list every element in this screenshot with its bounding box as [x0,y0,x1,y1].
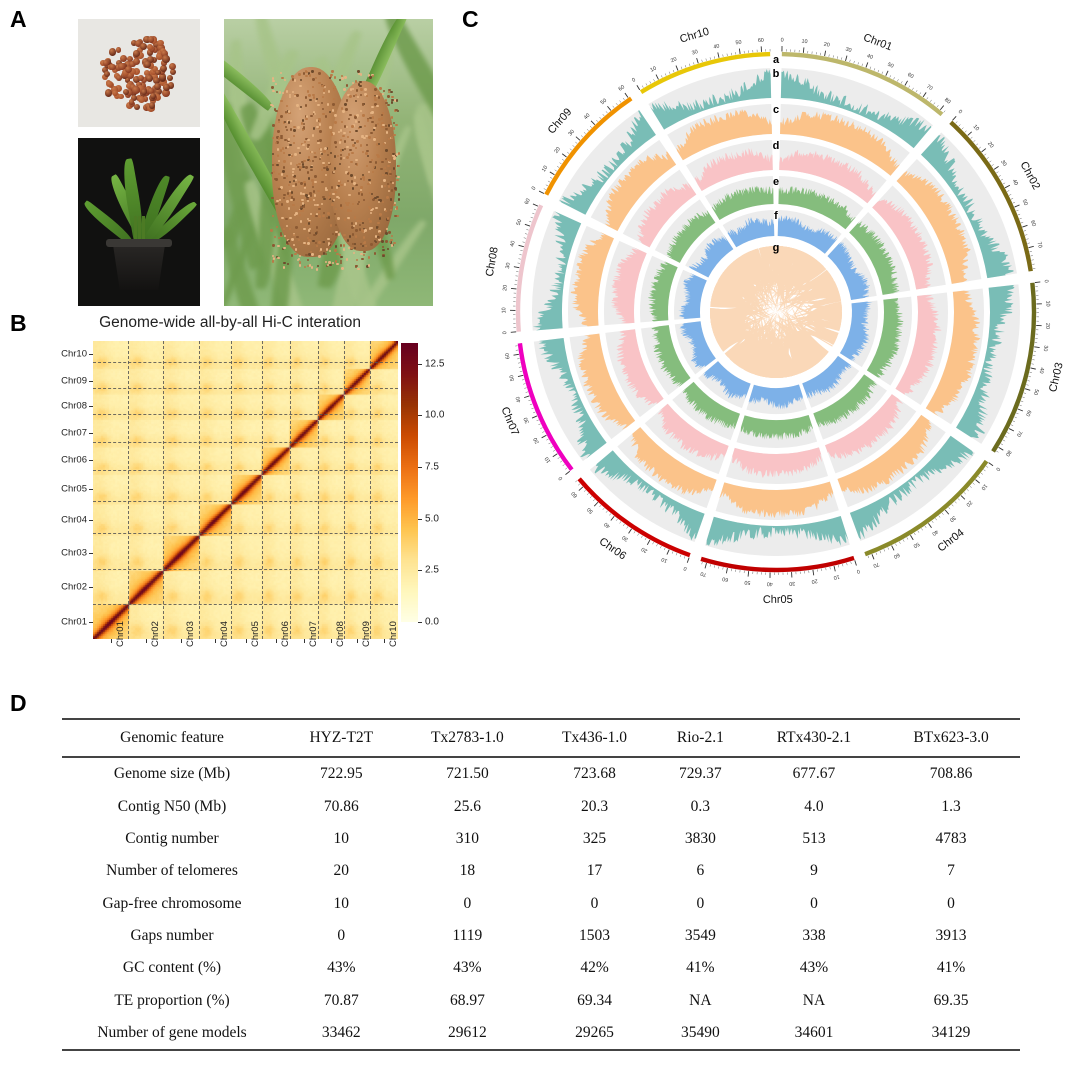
panicle-grain [381,240,383,242]
heatmap-x-tick [304,639,305,643]
panicle-grain [320,248,322,250]
panicle-grain [385,149,387,151]
panicle-grain [360,88,362,90]
table-cell: 722.95 [282,757,401,790]
ideogram-minor-tick [685,65,686,67]
ideogram-tick-label: 0 [856,568,861,575]
ideogram-tick-label: 30 [567,129,575,137]
ideogram-tick-label: 30 [523,416,531,424]
panicle-grain [340,129,342,131]
panicle-grain [342,135,344,137]
colorbar-tick-label: 2.5 [425,565,439,576]
ideogram-tick-label: 50 [509,374,516,381]
ideogram-major-tick [594,502,598,506]
panicle-grain [386,196,388,198]
panicle-grain [349,235,351,237]
ideogram-minor-tick [976,144,978,146]
ideogram-minor-tick [907,537,908,539]
table-cell: 29265 [534,1017,655,1050]
heatmap-x-tick [246,639,247,643]
panicle-grain [280,137,282,139]
panicle-grain [299,264,301,266]
panicle-grain [272,260,274,262]
ideogram-minor-tick [967,489,969,491]
panicle-grain [333,199,335,201]
ideogram-minor-tick [1024,230,1026,231]
ideogram-minor-tick [841,57,842,59]
ideogram-major-tick [542,435,547,438]
panicle-grain [309,74,311,76]
panicle-grain [295,248,297,250]
colorbar-tick [418,415,422,416]
heatmap-x-tick [181,639,182,643]
panicle-grain [364,229,366,231]
panicle-grain [270,229,272,231]
panicle-grain [381,161,383,163]
table-header-cell: RTx430-2.1 [746,719,882,757]
ideogram-minor-tick [899,542,900,544]
panicle-grain [353,95,355,97]
ideogram-minor-tick [620,521,621,523]
ideogram-minor-tick [949,507,951,509]
ideogram-tick-label: 40 [603,521,611,529]
panicle-grain [311,253,313,255]
ideogram-minor-tick [524,238,526,239]
heatmap-y-tick-label: Chr03 [61,547,87,558]
panicle-grain [294,79,296,81]
ideogram-minor-tick [563,464,565,465]
table-header-cell: Tx2783-1.0 [401,719,535,757]
table-cell: 29612 [401,1017,535,1050]
ideogram-minor-tick [710,57,711,59]
panel-b: B Genome-wide all-by-all Hi-C interation… [0,300,460,680]
chromosome-label: Chr05 [763,594,793,606]
table-cell: 0 [655,888,746,920]
table-cell: 34601 [746,1017,882,1050]
ideogram-minor-tick [1030,251,1032,252]
panicle-grain [296,94,298,96]
ideogram-minor-tick [979,147,981,149]
ideogram-minor-tick [613,106,614,108]
ideogram-tick-label: 50 [1032,388,1040,396]
panicle-grain [389,173,391,175]
ideogram-major-tick [910,535,913,540]
ideogram-major-tick [1022,225,1027,227]
ideogram-major-tick [968,132,972,136]
ideogram-minor-tick [523,384,525,385]
panicle-grain [341,267,343,269]
genome-assembly-comparison-table: Genomic featureHYZ-T2TTx2783-1.0Tx436-1.… [62,718,1020,1051]
ideogram-minor-tick [634,531,635,533]
ideogram-tick-label: 20 [502,285,509,292]
panicle-grain [391,244,393,246]
panicle-grain [355,265,357,267]
ideogram-major-tick [1029,246,1034,247]
panicle-grain [354,216,356,218]
panicle-grain [387,104,389,106]
panicle-grain [342,110,344,112]
ideogram-minor-tick [573,145,575,147]
ideogram-minor-tick [973,140,975,142]
panicle-grain [391,101,393,103]
ideogram-minor-tick [526,392,528,393]
panicle-grain [315,242,317,244]
ideogram-minor-tick [833,55,834,57]
ideogram-minor-tick [916,90,917,92]
heatmap-gridline [344,341,345,639]
table-cell: 513 [746,823,882,855]
panicle-grain [303,205,305,207]
panicle-grain [310,169,312,171]
ideogram-minor-tick [1015,417,1017,418]
ideogram-minor-tick [897,79,898,81]
panicle-grain [378,118,380,120]
chromosome-label: Chr01 [862,32,894,54]
ideogram-minor-tick [1025,235,1027,236]
ideogram-minor-tick [553,450,555,451]
panicle-grain [336,196,338,198]
circos-track-letter-c: c [773,104,779,116]
panicle-grain [292,78,294,80]
ideogram-minor-tick [706,59,707,61]
table-row: Number of telomeres201817697 [62,855,1020,887]
panicle-grain [313,190,315,192]
panicle-grain [355,222,357,224]
seed [106,81,113,88]
panicle-grain [385,240,387,242]
ideogram-minor-tick [959,125,961,127]
ideogram-minor-tick [987,157,989,158]
panicle-grain [374,252,376,254]
ideogram-minor-tick [870,67,871,69]
ideogram-minor-tick [661,75,662,77]
table-cell: 41% [882,952,1020,984]
panicle-grain [334,141,336,143]
panicle-grain [369,207,371,209]
panicle-grain [369,220,371,222]
ideogram-tick-label: 40 [713,43,720,50]
panicle-grain [277,245,279,247]
panicle-grain [307,146,309,148]
ideogram-minor-tick [603,508,605,510]
table-cell: NA [655,985,746,1017]
panicle-grain [322,215,324,217]
seed [104,71,110,77]
table-row-label: Gap-free chromosome [62,888,282,920]
panicle-grain [325,115,327,117]
panicle-grain [294,153,296,155]
panicle-grain [286,200,288,202]
ideogram-minor-tick [575,142,577,144]
seed [149,102,155,108]
panicle-grain [324,147,326,149]
panicle-grain [383,179,385,181]
ideogram-tick-label: 80 [1004,449,1012,457]
ideogram-minor-tick [603,114,605,116]
ideogram-minor-tick [669,72,670,74]
heatmap-gridline [290,341,291,639]
panicle-grain [288,154,290,156]
panicle-grain [390,198,392,200]
seed [147,44,153,50]
ideogram-tick-label: 20 [641,546,649,554]
panicle-grain [352,187,354,189]
ideogram-minor-tick [609,514,611,516]
panicle-grain [278,121,280,123]
panicle-grain [291,254,293,256]
panicle-grain [346,84,348,86]
panicle-grain [326,168,328,170]
ideogram-tick-label: 30 [948,514,956,522]
panicle-grain [385,102,387,104]
ideogram-minor-tick [1001,179,1003,180]
panicle-grain [348,118,350,120]
ideogram-major-tick [999,447,1004,450]
ideogram-major-tick [539,191,544,193]
panicle-grain [388,91,390,93]
ideogram-major-tick [607,106,610,110]
ideogram-major-tick [576,137,580,141]
panicle-grain [388,190,390,192]
panicle-grain [370,132,372,134]
panicle-grain [278,160,280,162]
ideogram-minor-tick [528,400,530,401]
panicle-grain [312,86,314,88]
ideogram-minor-tick [964,492,966,494]
ideogram-minor-tick [646,83,647,85]
table-cell: 721.50 [401,757,535,790]
circos-track-letter-e: e [773,176,779,188]
table-row-label: Genome size (Mb) [62,757,282,790]
chromosome-ideogram-arc [701,558,854,570]
ideogram-minor-tick [842,564,843,566]
ideogram-tick-label: 10 [501,307,507,313]
ideogram-tick-label: 60 [722,575,729,582]
ideogram-tick-label: 10 [649,66,657,74]
panicle-grain [303,228,305,230]
ideogram-minor-tick [971,137,973,139]
panicle-grain [288,138,290,140]
panicle-grain [351,152,353,154]
ideogram-minor-tick [584,132,586,134]
heatmap-gridline [231,341,232,639]
panicle-grain [276,91,278,93]
ideogram-major-tick [550,172,555,175]
ideogram-tick-label: 10 [980,482,988,490]
ideogram-minor-tick [533,412,535,413]
panicle-grain [375,207,377,209]
table-cell: 7 [882,855,1020,887]
ideogram-minor-tick [684,556,685,558]
seed [116,47,122,53]
ideogram-major-tick [928,523,931,527]
ideogram-tick-label: 50 [912,541,920,549]
ideogram-minor-tick [584,490,586,492]
heatmap-gridline [93,533,398,534]
panicle-grain [305,166,307,168]
ideogram-minor-tick [522,379,524,380]
heatmap-x-tick [215,639,216,643]
ideogram-major-tick [514,267,519,268]
panicle-grain [283,247,285,249]
ideogram-minor-tick [838,565,839,567]
panicle-grain [299,152,301,154]
ideogram-major-tick [637,85,640,90]
ideogram-minor-tick [921,528,922,530]
panicle-grain [347,209,349,211]
panicle-grain [319,130,321,132]
panicle-grain [298,258,300,260]
panicle-grain [374,88,376,90]
panicle-grain [362,114,364,116]
ideogram-tick-label: 10 [833,573,840,580]
panicle-grain [301,199,303,201]
heatmap-y-tick-label: Chr05 [61,484,87,495]
panicle-grain [394,187,396,189]
ideogram-minor-tick [718,566,719,568]
ideogram-major-tick [565,471,569,474]
ideogram-minor-tick [984,470,986,471]
ideogram-major-tick [625,93,628,97]
ideogram-tick-label: 50 [744,579,751,586]
ideogram-minor-tick [1005,436,1007,437]
table-cell: 310 [401,823,535,855]
ideogram-tick-label: 0 [781,37,784,43]
panel-letter-d: D [10,692,27,715]
table-row: Contig N50 (Mb)70.8625.620.30.34.01.3 [62,790,1020,822]
panicle-grain [283,166,285,168]
panicle-grain [286,241,288,243]
ideogram-major-tick [1034,347,1039,348]
table-cell: 0 [401,888,535,920]
heatmap-gridline [199,341,200,639]
ideogram-minor-tick [581,135,583,137]
ideogram-tick-label: 20 [811,577,818,584]
table-cell: 43% [746,952,882,984]
panicle-grain [352,233,354,235]
ideogram-minor-tick [578,484,580,486]
ideogram-major-tick [961,496,965,500]
panicle-grain [340,157,342,159]
ideogram-tick-label: 0 [683,565,688,572]
ideogram-minor-tick [524,388,526,389]
panicle-grain [318,215,320,217]
panicle-grain [288,110,290,112]
ideogram-minor-tick [894,77,895,79]
seed [116,75,122,81]
table-cell: 35490 [655,1017,746,1050]
ideogram-tick-label: 30 [621,534,629,542]
panicle-grain [359,81,361,83]
ideogram-tick-label: 20 [533,436,541,444]
panicle-grain [318,72,320,74]
circos-track-letter-b: b [773,68,780,80]
ideogram-minor-tick [676,553,677,555]
ideogram-minor-tick [654,79,655,81]
plant-pot-rim [106,239,172,247]
panicle-grain [302,144,304,146]
ideogram-minor-tick [714,565,715,567]
ideogram-minor-tick [1026,385,1028,386]
ideogram-major-tick [989,463,993,466]
panel-d: D Genomic featureHYZ-T2TTx2783-1.0Tx436-… [0,690,1080,1078]
ideogram-major-tick [886,71,888,76]
heatmap-gridline [93,501,398,502]
ideogram-minor-tick [876,553,877,555]
ideogram-minor-tick [1019,405,1021,406]
panicle-grain [272,80,274,82]
ideogram-tick-label: 50 [886,62,894,70]
ideogram-minor-tick [1013,202,1015,203]
ideogram-tick-label: 20 [965,499,973,507]
table-cell: 0 [746,888,882,920]
panicle-grain [335,233,337,235]
ideogram-major-tick [994,166,999,169]
colorbar-tick [418,467,422,468]
colorbar-tick-label: 0.0 [425,617,439,628]
table-row: Gap-free chromosome1000000 [62,888,1020,920]
table-cell: 0 [534,888,655,920]
panicle-grain [313,96,315,98]
heatmap-y-tick-label: Chr10 [61,349,87,360]
panicle-grain [345,171,347,173]
ideogram-minor-tick [520,250,522,251]
panicle-grain [340,184,342,186]
panicle-grain [314,194,316,196]
ideogram-major-tick [892,546,894,551]
circos-track-letter-d: d [773,140,780,152]
ideogram-minor-tick [862,64,863,66]
ideogram-minor-tick [627,526,628,528]
panicle-grain [390,209,392,211]
colorbar-tick [418,519,422,520]
panicle-grain [356,89,358,91]
panicle-grain [346,156,348,158]
heatmap-gridline [93,362,398,363]
ideogram-tick-label: 40 [931,528,939,536]
colorbar-tick-label: 5.0 [425,513,439,524]
ideogram-minor-tick [996,451,998,452]
ideogram-minor-tick [549,443,551,444]
heatmap-gridline [128,341,129,639]
panicle-grain [327,212,329,214]
seed [150,93,156,99]
ideogram-minor-tick [837,56,838,58]
panicle-grain [275,178,277,180]
panicle-grain [327,103,329,105]
ideogram-tick-label: 10 [661,556,669,564]
panicle-grain [353,225,355,227]
panicle-grain [312,215,314,217]
panicle-grain [292,168,294,170]
panicle-grain [392,153,394,155]
panicle-grain [398,198,400,200]
ideogram-minor-tick [992,164,994,165]
panicle-grain [368,256,370,258]
ideogram-tick-label: 60 [505,353,512,360]
seed [169,63,176,70]
heatmap-gridline [93,414,398,415]
heatmap-gridline [93,442,398,443]
ideogram-minor-tick [920,92,921,94]
panicle-grain [354,243,356,245]
ideogram-minor-tick [981,473,983,474]
panicle-grain [317,104,319,106]
panicle-grain [290,199,292,201]
ideogram-minor-tick [1003,183,1005,184]
heatmap-gridline [93,470,398,471]
table-cell: 68.97 [401,985,535,1017]
